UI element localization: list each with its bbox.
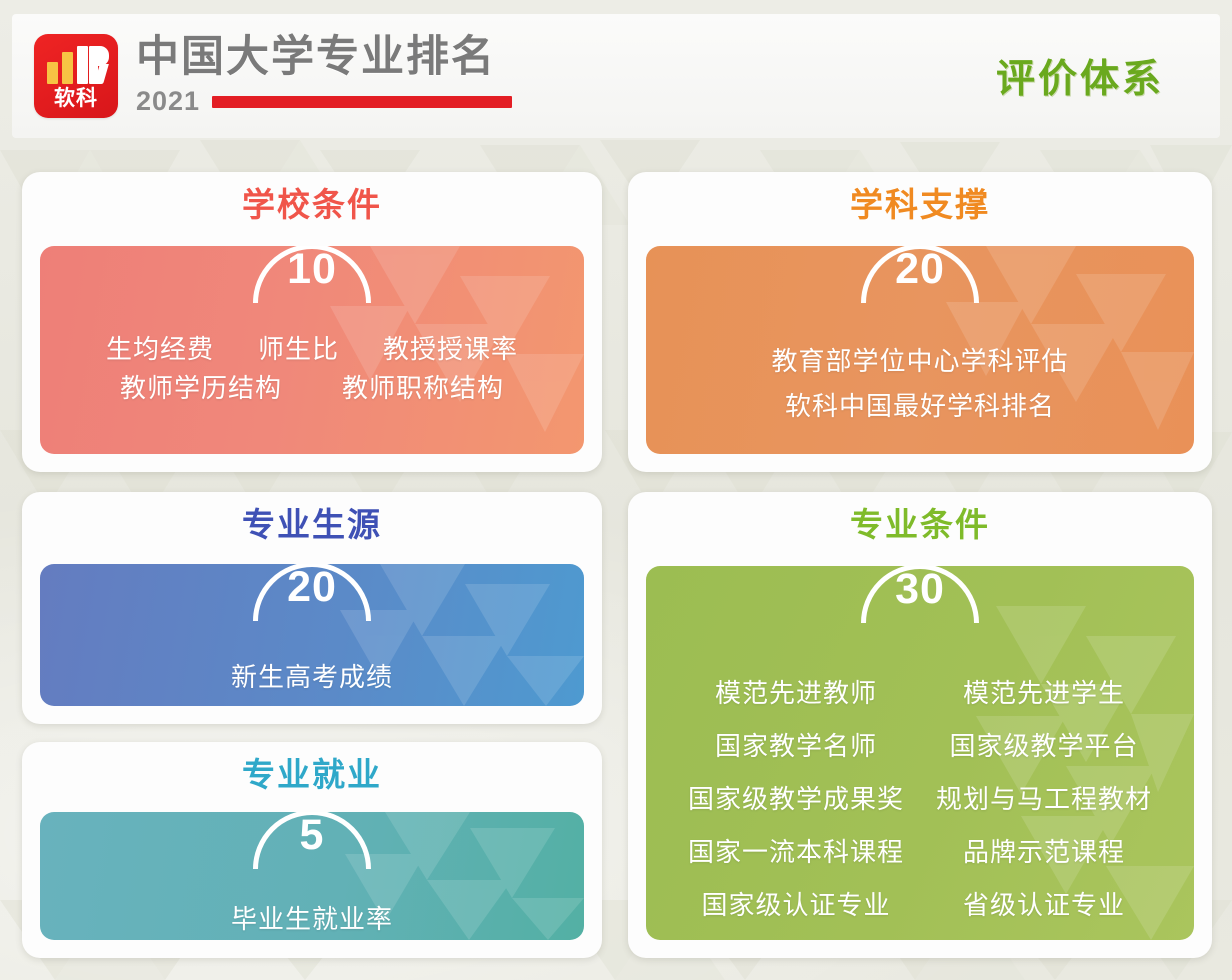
page-title: 中国大学专业排名 [136,35,512,80]
card-panel-major-employment: 5 毕业生就业率 [40,812,584,940]
indicator-row: 教师学历结构 教师职称结构 [40,369,584,408]
indicator-row: 教育部学位中心学科评估 [646,342,1194,381]
subtitle-row: 2021 [136,86,512,117]
indicator-item: 品牌示范课程 [922,833,1166,872]
indicator-row: 生均经费 师生比 教授授课率 [40,330,584,369]
card-panel-major-conditions: 30 模范先进教师 模范先进学生 国家教学名师 国家级教学平台 国家级教学成果奖… [646,566,1194,940]
indicator-row: 毕业生就业率 [40,900,584,939]
weight-value-school-conditions: 10 [253,248,371,291]
card-title-discipline-support: 学科支撑 [628,188,1212,221]
indicator-item: 国家级教学平台 [922,727,1166,766]
weight-value-major-student-source: 20 [253,566,371,609]
card-title-major-conditions: 专业条件 [628,508,1212,541]
weight-badge-major-employment: 5 [253,812,371,871]
card-title-major-student-source: 专业生源 [22,508,602,541]
section-title-evaluation-system: 评价体系 [996,48,1164,104]
indicator-grid: 模范先进教师 模范先进学生 国家教学名师 国家级教学平台 国家级教学成果奖 规划… [646,674,1194,925]
card-title-major-employment: 专业就业 [22,758,602,791]
indicator-item: 国家教学名师 [674,727,918,766]
indicator-item: 生均经费 [106,330,214,369]
indicator-list-discipline-support: 教育部学位中心学科评估 软科中国最好学科排名 [646,342,1194,432]
indicator-row: 软科中国最好学科排名 [646,387,1194,426]
indicator-item: 教师职称结构 [342,369,504,408]
page-header: 软科 中国大学专业排名 2021 评价体系 [12,14,1220,138]
indicator-item: 软科中国最好学科排名 [785,387,1055,426]
indicator-list-major-employment: 毕业生就业率 [40,900,584,939]
indicator-item: 教授授课率 [383,330,518,369]
card-panel-school-conditions: 10 生均经费 师生比 教授授课率 教师学历结构 教师职称结构 [40,246,584,454]
weight-badge-major-conditions: 30 [861,566,979,625]
card-discipline-support: 学科支撑 20 教育部学位中心学科 [628,172,1212,472]
card-major-student-source: 专业生源 20 新生高考成绩 [22,492,602,724]
card-grid: 学校条件 10 生均经费 [0,150,1232,980]
indicator-item: 国家级认证专业 [674,886,918,925]
logo-brand-text: 软科 [34,88,118,109]
indicator-list-major-student-source: 新生高考成绩 [40,658,584,697]
card-panel-discipline-support: 20 教育部学位中心学科评估 软科中国最好学科排名 [646,246,1194,454]
card-major-employment: 专业就业 5 毕业生就业率 [22,742,602,958]
weight-badge-school-conditions: 10 [253,246,371,305]
indicator-item: 教育部学位中心学科评估 [771,342,1068,381]
indicator-item: 省级认证专业 [922,886,1166,925]
infographic-page: 软科 中国大学专业排名 2021 评价体系 学校条件 [0,0,1232,980]
year-label: 2021 [136,86,200,117]
indicator-item: 国家级教学成果奖 [674,780,918,819]
indicator-item: 规划与马工程教材 [922,780,1166,819]
weight-value-major-employment: 5 [253,814,371,857]
ruanke-logo-icon: 软科 [34,34,118,118]
weight-badge-major-student-source: 20 [253,564,371,623]
indicator-item: 毕业生就业率 [231,900,393,939]
logo-bars [45,46,107,84]
weight-value-major-conditions: 30 [861,568,979,611]
indicator-item: 师生比 [258,330,339,369]
indicator-item: 教师学历结构 [120,369,282,408]
card-panel-major-student-source: 20 新生高考成绩 [40,564,584,706]
card-major-conditions: 专业条件 30 [628,492,1212,958]
indicator-list-school-conditions: 生均经费 师生比 教授授课率 教师学历结构 教师职称结构 [40,330,584,408]
indicator-item: 模范先进学生 [922,674,1166,713]
indicator-item: 新生高考成绩 [231,658,393,697]
card-title-school-conditions: 学校条件 [22,188,602,221]
title-block: 中国大学专业排名 2021 [136,35,512,117]
indicator-row: 新生高考成绩 [40,658,584,697]
indicator-list-major-conditions: 模范先进教师 模范先进学生 国家教学名师 国家级教学平台 国家级教学成果奖 规划… [646,674,1194,925]
red-rule-divider [212,96,512,108]
weight-value-discipline-support: 20 [861,248,979,291]
card-school-conditions: 学校条件 10 生均经费 [22,172,602,472]
weight-badge-discipline-support: 20 [861,246,979,305]
indicator-item: 模范先进教师 [674,674,918,713]
indicator-item: 国家一流本科课程 [674,833,918,872]
